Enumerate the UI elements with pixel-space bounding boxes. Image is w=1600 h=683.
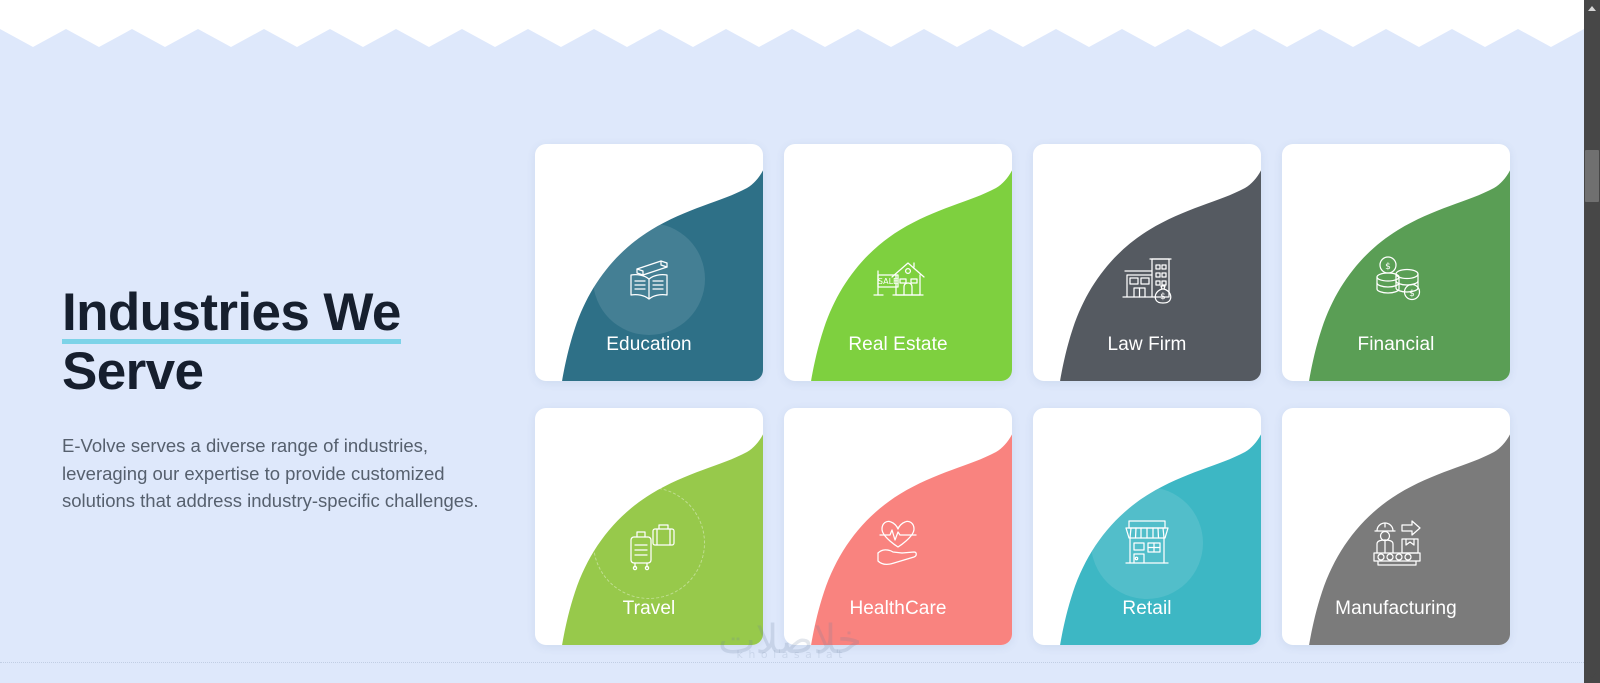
card-label: Retail bbox=[1033, 598, 1261, 620]
storefront-icon bbox=[1115, 511, 1179, 575]
industry-card-grid: Education bbox=[535, 144, 1510, 645]
svg-text:SALE: SALE bbox=[878, 277, 898, 286]
factory-conveyor-icon bbox=[1364, 511, 1428, 575]
industry-card-real-estate[interactable]: SALE Real Estate bbox=[784, 144, 1012, 381]
open-book-pencil-icon bbox=[617, 247, 681, 311]
manufacturing-icon-wrap bbox=[1282, 500, 1510, 586]
svg-text:$: $ bbox=[1385, 262, 1391, 272]
industry-card-financial[interactable]: $ $ Financial bbox=[1282, 144, 1510, 381]
industry-card-manufacturing[interactable]: Manufacturing bbox=[1282, 408, 1510, 645]
industry-card-education[interactable]: Education bbox=[535, 144, 763, 381]
card-label: Travel bbox=[535, 598, 763, 620]
scrollbar-thumb[interactable] bbox=[1585, 150, 1599, 202]
card-label: Manufacturing bbox=[1282, 598, 1510, 620]
luggage-icon bbox=[617, 511, 681, 575]
real-estate-icon-wrap: SALE bbox=[784, 236, 1012, 322]
svg-text:$: $ bbox=[1409, 289, 1415, 299]
heart-in-hand-icon bbox=[866, 511, 930, 575]
healthcare-icon-wrap bbox=[784, 500, 1012, 586]
industry-card-travel[interactable]: Travel bbox=[535, 408, 763, 645]
education-icon-wrap bbox=[535, 236, 763, 322]
coin-stack-icon: $ $ bbox=[1364, 247, 1428, 311]
industry-card-law-firm[interactable]: $ Law Firm bbox=[1033, 144, 1261, 381]
page-root: Industries WeServe E-Volve serves a dive… bbox=[0, 0, 1600, 683]
page-title-line1: Industries We bbox=[62, 283, 401, 344]
intro-paragraph: E-Volve serves a diverse range of indust… bbox=[62, 432, 492, 515]
travel-icon-wrap bbox=[535, 500, 763, 586]
page-title-line2: Serve bbox=[62, 342, 203, 401]
scroll-down-arrow-icon[interactable] bbox=[1584, 667, 1600, 683]
page-title: Industries WeServe bbox=[62, 283, 502, 401]
vertical-scrollbar[interactable] bbox=[1584, 0, 1600, 683]
retail-icon-wrap bbox=[1033, 500, 1261, 586]
watermark-rule bbox=[0, 662, 1584, 663]
industry-card-retail[interactable]: Retail bbox=[1033, 408, 1261, 645]
scroll-up-arrow-icon[interactable] bbox=[1584, 0, 1600, 16]
card-label: Law Firm bbox=[1033, 334, 1261, 356]
intro-block: Industries WeServe E-Volve serves a dive… bbox=[62, 283, 502, 515]
card-label: Real Estate bbox=[784, 334, 1012, 356]
card-label: Education bbox=[535, 334, 763, 356]
law-firm-icon-wrap: $ bbox=[1033, 236, 1261, 322]
financial-icon-wrap: $ $ bbox=[1282, 236, 1510, 322]
svg-text:$: $ bbox=[1160, 292, 1166, 302]
card-label: Financial bbox=[1282, 334, 1510, 356]
card-label: HealthCare bbox=[784, 598, 1012, 620]
industry-card-healthcare[interactable]: HealthCare bbox=[784, 408, 1012, 645]
house-for-sale-icon: SALE bbox=[866, 247, 930, 311]
courthouse-money-bag-icon: $ bbox=[1115, 247, 1179, 311]
